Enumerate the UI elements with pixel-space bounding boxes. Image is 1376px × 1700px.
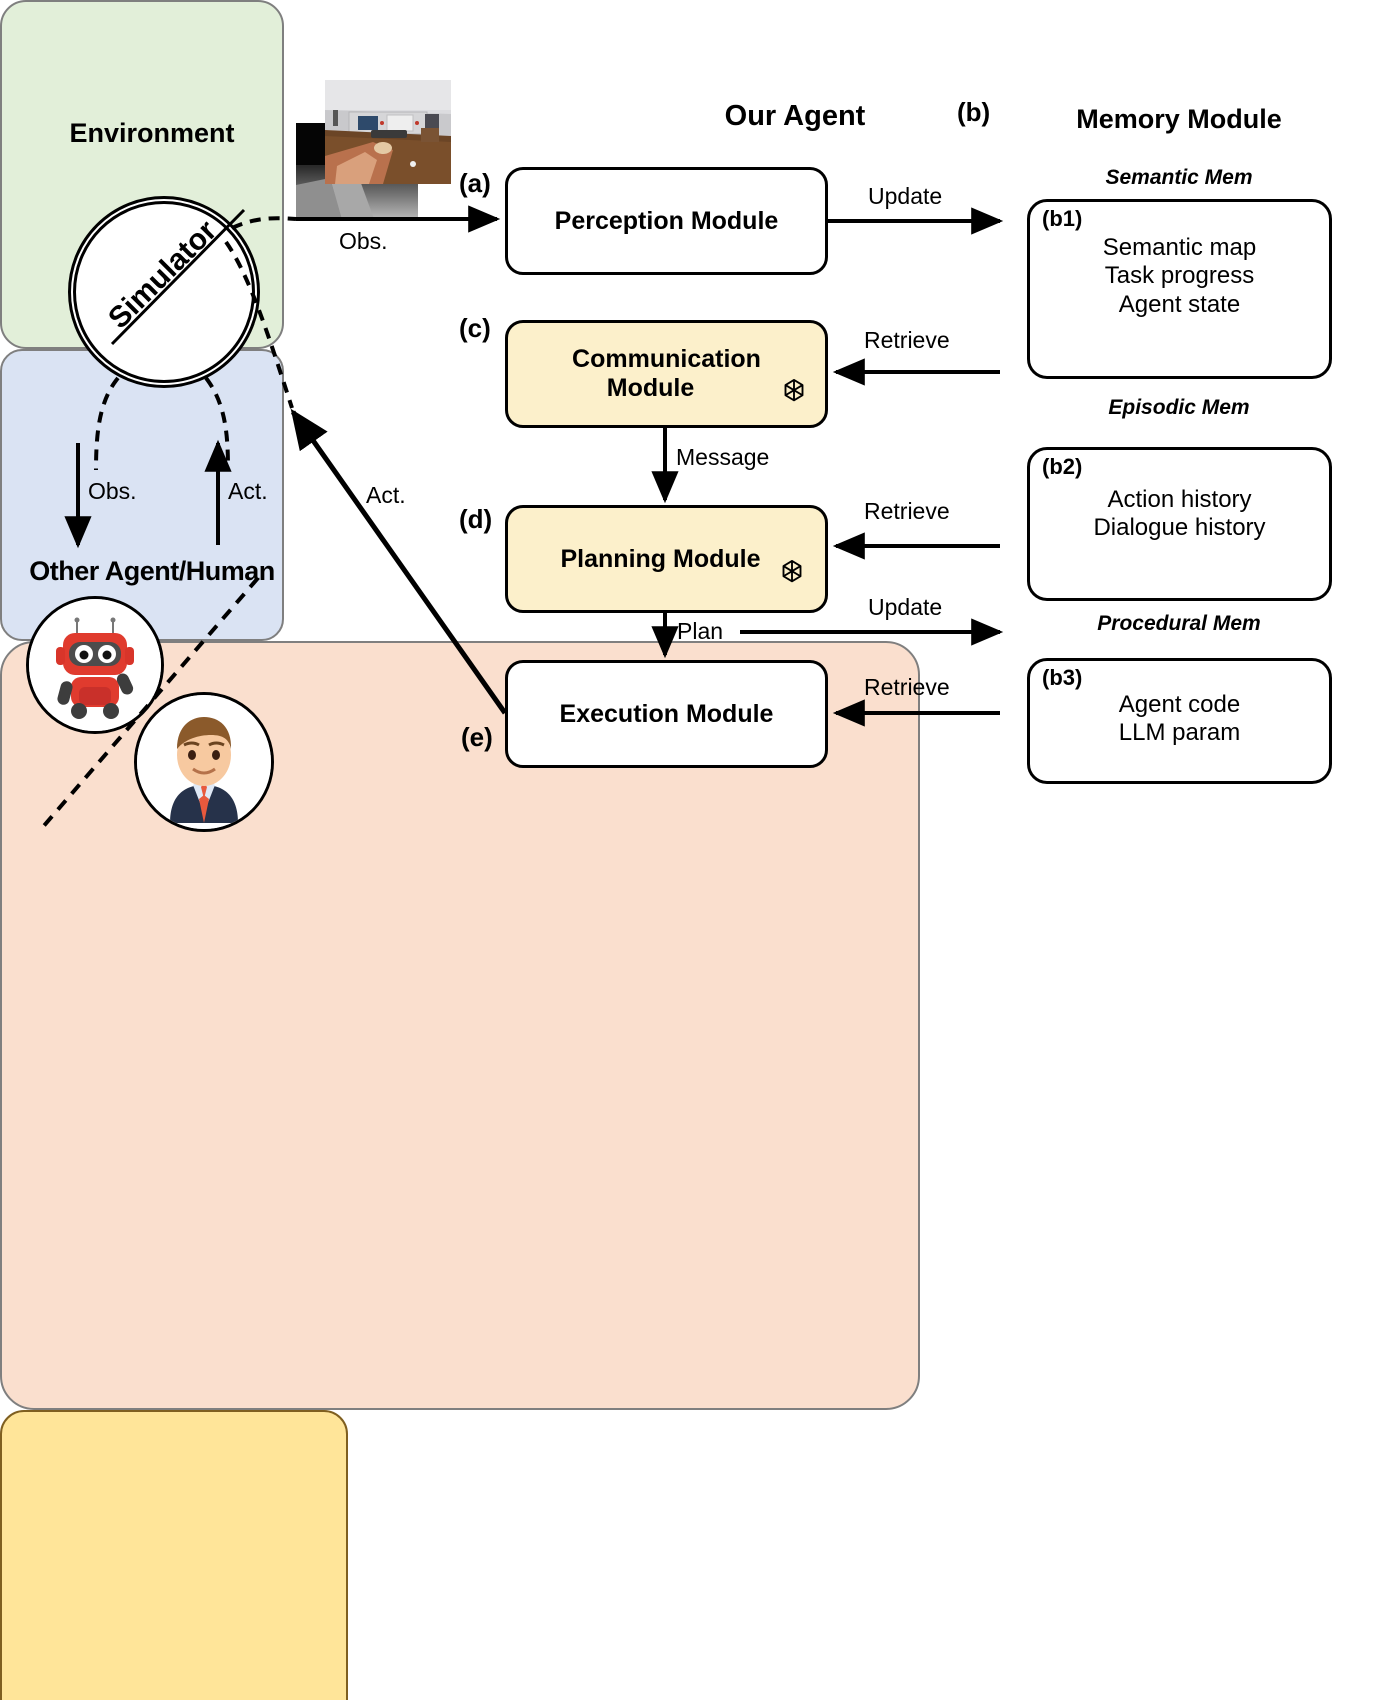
connector-arrows [0,0,1376,850]
label-retrieve-planning: Retrieve [864,498,950,525]
label-act-from-other: Act. [228,478,268,505]
label-act-to-env: Act. [366,482,406,509]
label-update-perception: Update [868,183,942,210]
label-message: Message [676,444,769,471]
label-plan: Plan [677,618,723,645]
memory-module-panel [0,1410,348,1700]
label-obs-to-perception: Obs. [339,228,388,255]
label-update-plan: Update [868,594,942,621]
label-retrieve-execution: Retrieve [864,674,950,701]
label-obs-to-other: Obs. [88,478,137,505]
label-retrieve-communication: Retrieve [864,327,950,354]
